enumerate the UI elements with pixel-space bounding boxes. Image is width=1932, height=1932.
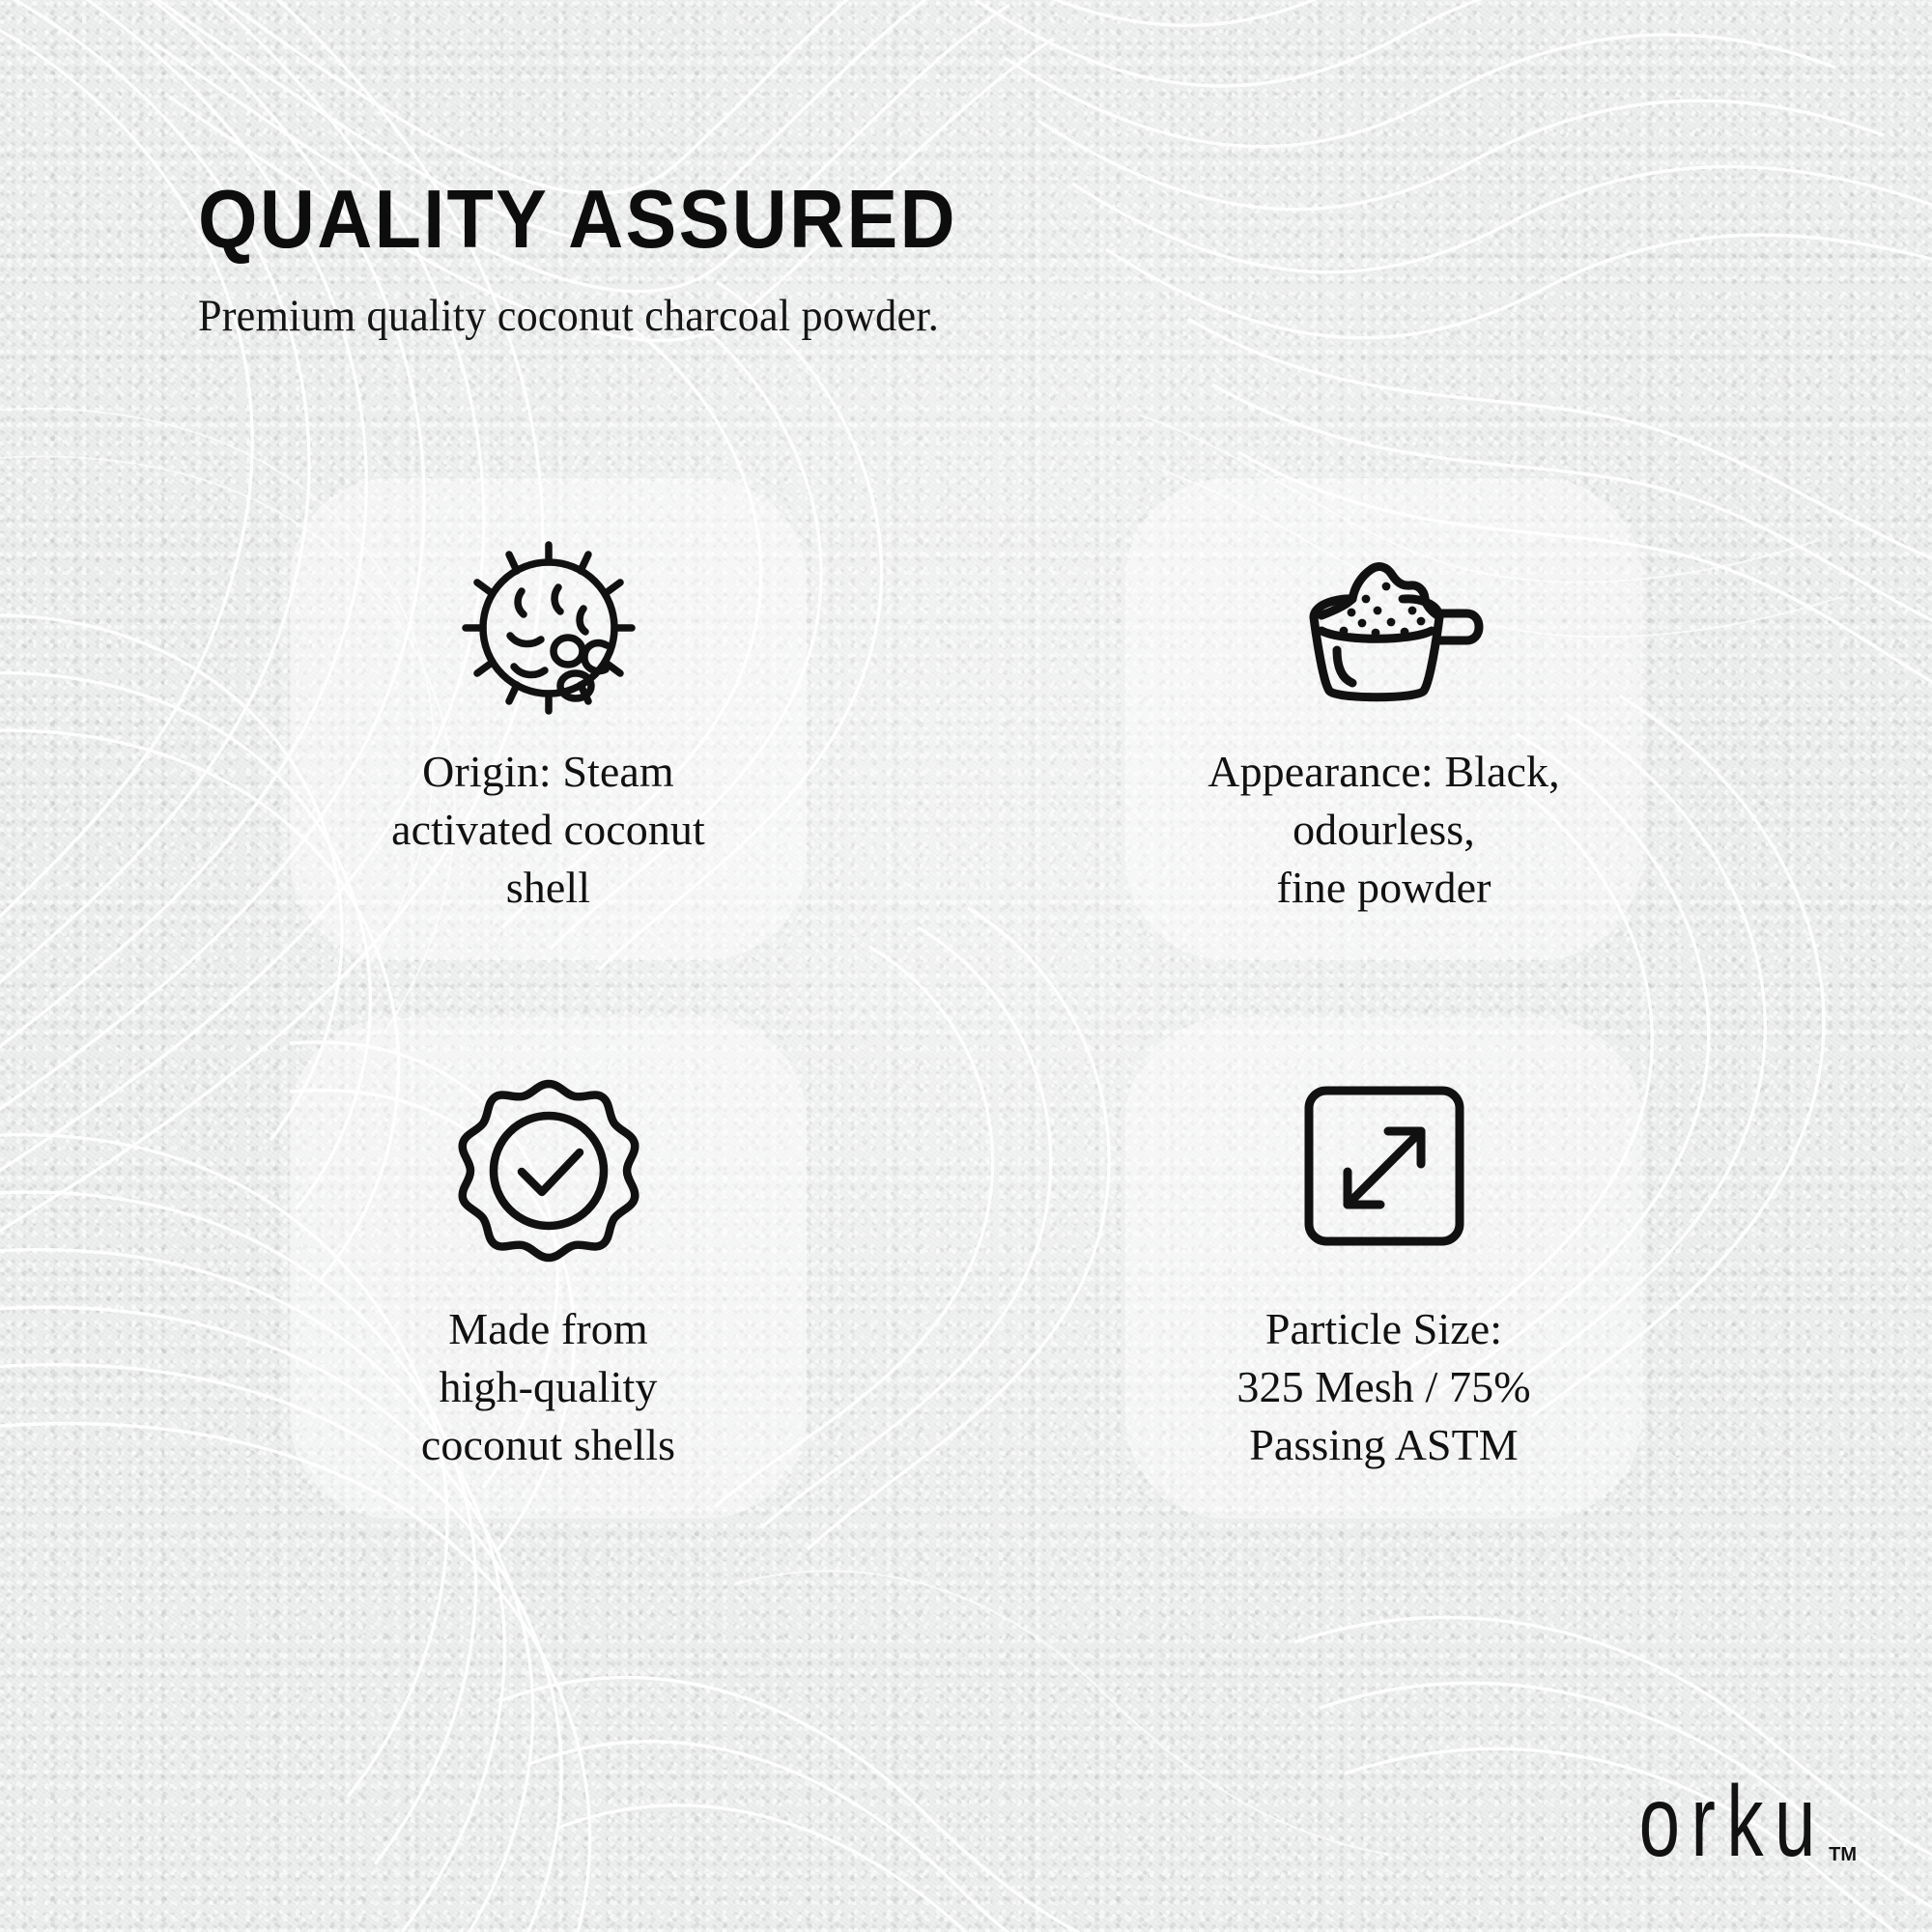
feature-card-quality-text: Made from high-quality coconut shells bbox=[421, 1300, 675, 1473]
page-title: QUALITY ASSURED bbox=[198, 179, 957, 261]
check-badge-icon bbox=[447, 1074, 650, 1258]
card-line: high-quality bbox=[421, 1358, 675, 1416]
card-line: 325 Mesh / 75% bbox=[1236, 1358, 1530, 1416]
page-subtitle: Premium quality coconut charcoal powder. bbox=[198, 290, 965, 342]
card-line: Passing ASTM bbox=[1236, 1416, 1530, 1474]
quality-assured-infographic: QUALITY ASSURED Premium quality coconut … bbox=[0, 0, 1932, 1932]
feature-card-appearance: Appearance: Black, odourless, fine powde… bbox=[1125, 478, 1642, 960]
feature-card-origin: Origin: Steam activated coconut shell bbox=[290, 478, 807, 960]
trademark-symbol: TM bbox=[1829, 1844, 1857, 1866]
card-line: Origin: Steam bbox=[391, 743, 705, 801]
feature-card-appearance-text: Appearance: Black, odourless, fine powde… bbox=[1207, 743, 1560, 916]
brand-logo: orku TM bbox=[1598, 1782, 1857, 1872]
measuring-scoop-powder-icon bbox=[1283, 534, 1486, 718]
brand-logo-wordmark: orku bbox=[1639, 1772, 1827, 1872]
card-line: Appearance: Black, bbox=[1207, 743, 1560, 801]
feature-card-particle-size-text: Particle Size: 325 Mesh / 75% Passing AS… bbox=[1236, 1300, 1530, 1473]
card-line: Made from bbox=[421, 1300, 675, 1358]
card-line: Particle Size: bbox=[1236, 1300, 1530, 1358]
card-line: activated coconut bbox=[391, 801, 705, 859]
card-line: coconut shells bbox=[421, 1416, 675, 1474]
header: QUALITY ASSURED Premium quality coconut … bbox=[198, 179, 1014, 342]
feature-card-origin-text: Origin: Steam activated coconut shell bbox=[391, 743, 705, 916]
feature-card-particle-size: Particle Size: 325 Mesh / 75% Passing AS… bbox=[1125, 1018, 1642, 1518]
feature-card-quality: Made from high-quality coconut shells bbox=[290, 1018, 807, 1518]
resize-arrows-square-icon bbox=[1283, 1074, 1486, 1258]
card-line: odourless, bbox=[1207, 801, 1560, 859]
feature-card-grid: Origin: Steam activated coconut shell bbox=[290, 478, 1642, 1519]
card-line: shell bbox=[391, 859, 705, 917]
coconut-particle-icon bbox=[447, 534, 650, 718]
card-line: fine powder bbox=[1207, 859, 1560, 917]
